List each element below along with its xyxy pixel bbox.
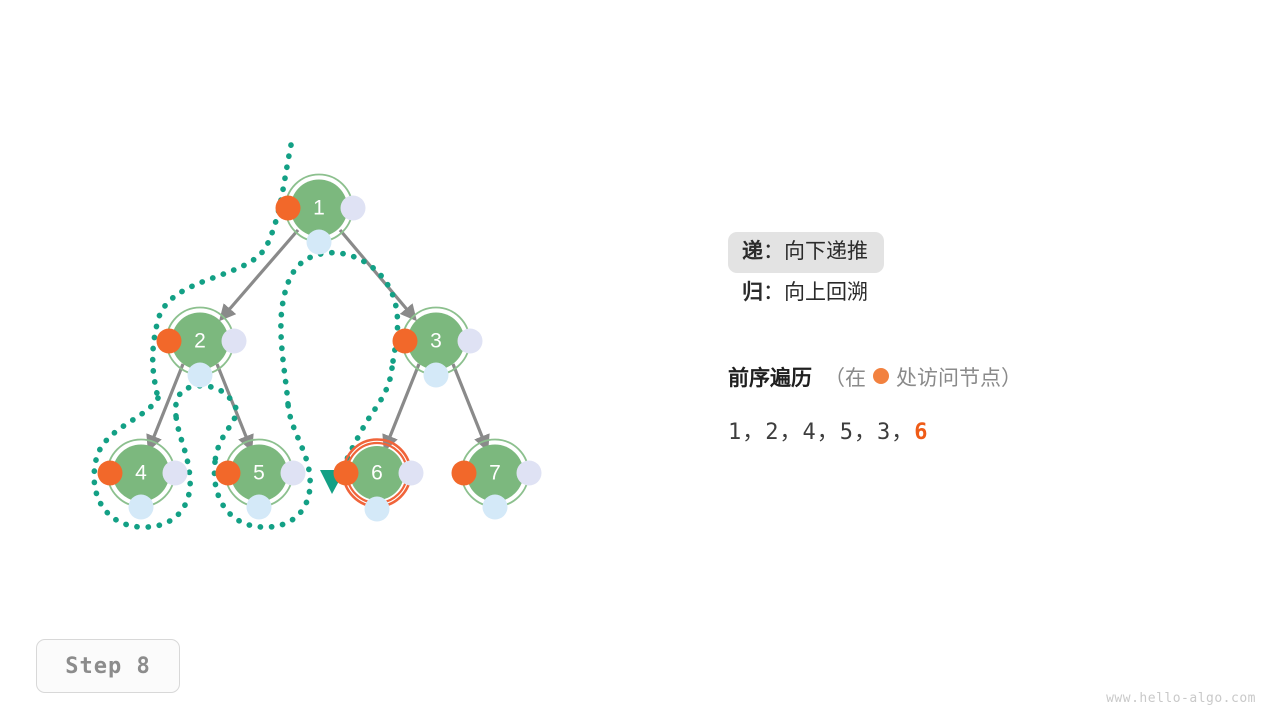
node-1-in-dot	[341, 196, 366, 221]
node-4-post-dot	[129, 495, 154, 520]
node-2-pre-dot	[157, 329, 182, 354]
node-6-post-dot	[365, 497, 390, 522]
binary-tree-diagram: 1 2 3 4 5	[0, 0, 640, 720]
node-3-post-dot	[424, 363, 449, 388]
edge-1-2	[221, 230, 298, 319]
step-badge-label: Step 8	[65, 654, 150, 679]
tree-node-7[interactable]: 7	[452, 440, 542, 520]
traversal-order-visited: 1，2，4，5，3，	[728, 420, 914, 445]
node-5-in-dot	[281, 461, 306, 486]
traversal-order-current: 6	[914, 420, 928, 445]
node-2-post-dot	[188, 363, 213, 388]
legend-return-row: 归：向上回溯	[728, 273, 1228, 314]
node-1-label: 1	[313, 197, 325, 220]
legend-recurse-text: 递：向下递推	[728, 232, 884, 273]
node-5-post-dot	[247, 495, 272, 520]
traversal-order-title-row: 前序遍历 （在 处访问节点）	[728, 362, 1248, 392]
node-1-pre-dot	[276, 196, 301, 221]
node-7-label: 7	[489, 462, 501, 485]
node-5-label: 5	[253, 462, 265, 485]
legend-panel: 递：向下递推 归：向上回溯	[728, 232, 1228, 314]
node-5-pre-dot	[216, 461, 241, 486]
node-6-in-dot	[399, 461, 424, 486]
traversal-order-note-close: 处访问节点）	[896, 362, 1022, 392]
traversal-order-block: 前序遍历 （在 处访问节点） 1，2，4，5，3，6	[728, 362, 1248, 446]
node-3-label: 3	[430, 330, 442, 353]
tree-node-6[interactable]: 6	[334, 440, 424, 522]
node-7-post-dot	[483, 495, 508, 520]
node-6-label: 6	[371, 462, 383, 485]
node-4-label: 4	[135, 462, 147, 485]
step-badge: Step 8	[36, 639, 180, 693]
node-2-label: 2	[194, 330, 206, 353]
node-3-in-dot	[458, 329, 483, 354]
edge-1-3	[340, 230, 415, 319]
node-2-in-dot	[222, 329, 247, 354]
node-7-pre-dot	[452, 461, 477, 486]
traversal-order-note-open: （在	[824, 362, 866, 392]
tree-node-4[interactable]: 4	[98, 440, 188, 520]
node-6-pre-dot	[334, 461, 359, 486]
tree-node-2[interactable]: 2	[157, 308, 247, 388]
pre-order-marker-icon	[873, 368, 889, 384]
node-4-pre-dot	[98, 461, 123, 486]
traversal-order-sequence: 1，2，4，5，3，6	[728, 414, 1248, 446]
tree-node-5[interactable]: 5	[216, 440, 306, 520]
legend-recurse-row: 递：向下递推	[728, 232, 1228, 273]
node-4-in-dot	[163, 461, 188, 486]
node-1-post-dot	[307, 230, 332, 255]
traversal-order-title: 前序遍历	[728, 362, 812, 392]
tree-node-3[interactable]: 3	[393, 308, 483, 388]
watermark: www.hello-algo.com	[1106, 691, 1256, 706]
path-segment-5-to-3	[281, 253, 398, 404]
edge-3-7	[453, 364, 487, 449]
legend-return-text: 归：向上回溯	[728, 273, 884, 314]
node-3-pre-dot	[393, 329, 418, 354]
node-7-in-dot	[517, 461, 542, 486]
